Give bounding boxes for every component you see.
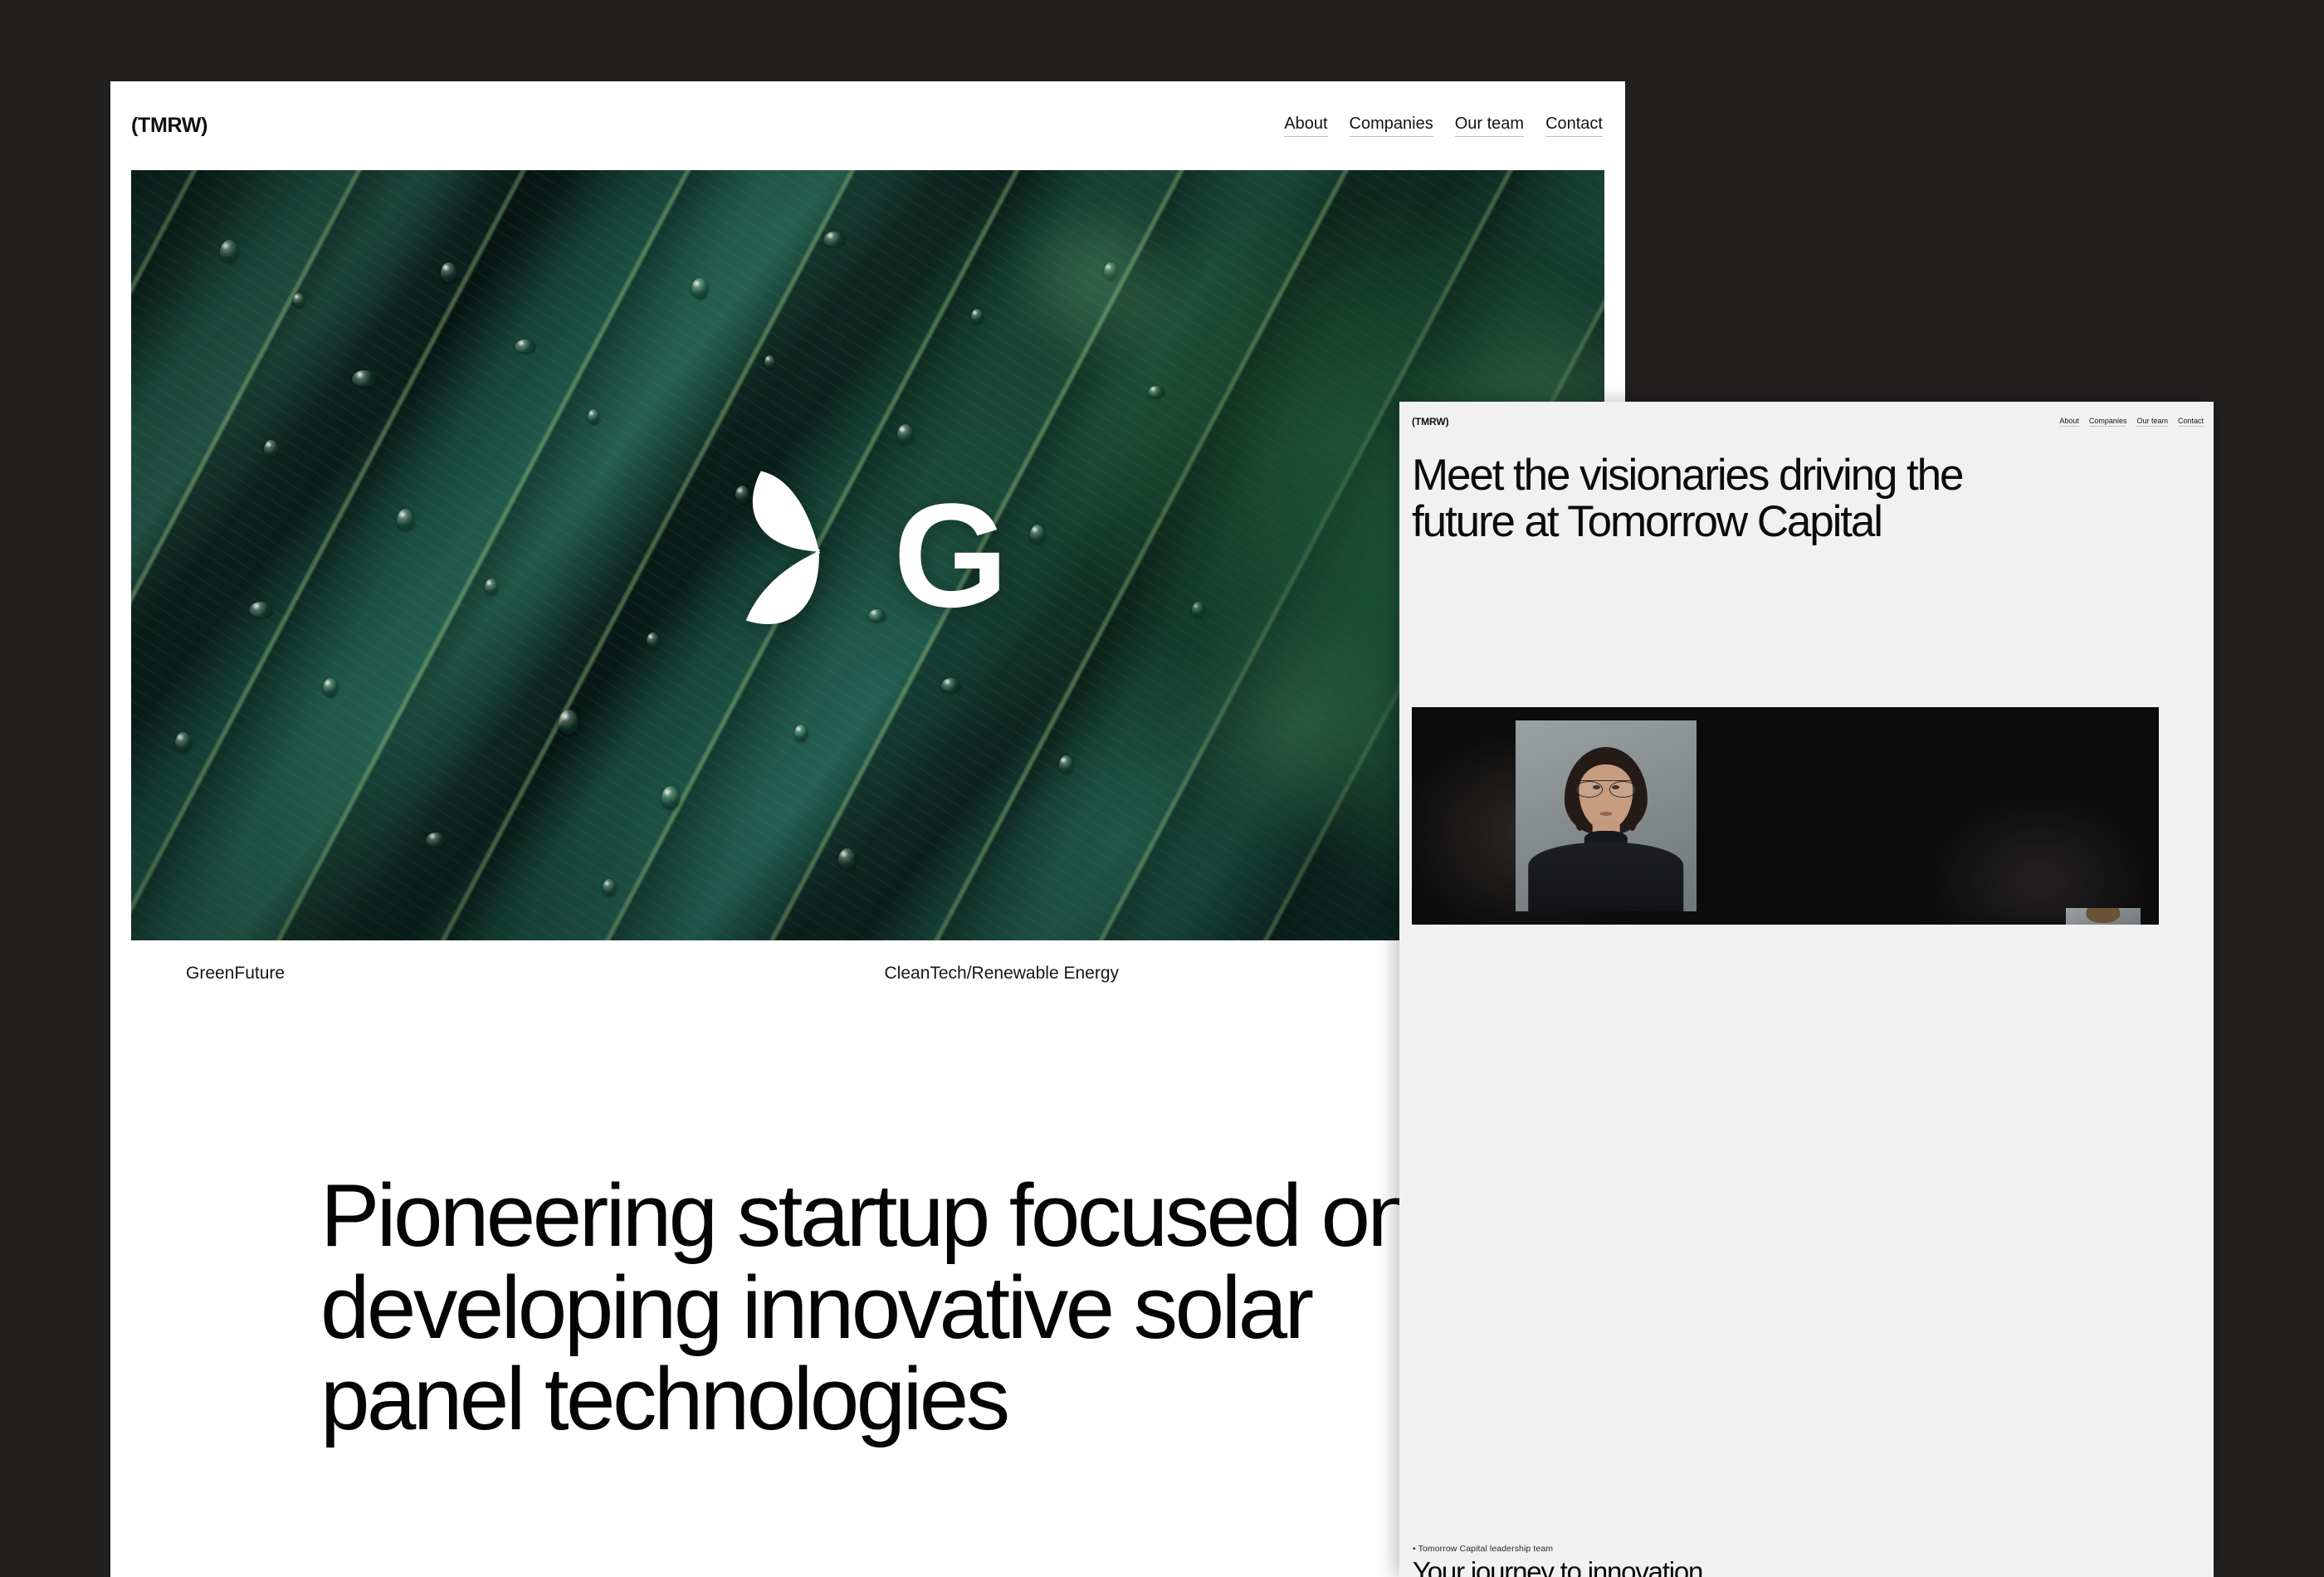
brand-letter-g: G [893,495,1003,616]
team-hero-image [1412,707,2159,925]
company-name: GreenFuture [131,964,868,984]
screenshot-stage: (TMRW) About Companies Our team Contact [0,0,2324,1577]
nav-item-contact-secondary[interactable]: Contact [2178,417,2204,427]
team-page-headline: Meet the visionaries driving the future … [1412,452,2009,545]
site-header-secondary: (TMRW) About Companies Our team Contact [1399,402,2214,441]
lead-portrait [1516,720,1697,911]
team-window: (TMRW) About Companies Our team Contact … [1399,402,2214,1577]
nav-item-about[interactable]: About [1284,115,1327,137]
nav-item-contact[interactable]: Contact [1545,115,1603,137]
nav-item-about-secondary[interactable]: About [2059,417,2079,427]
company-detail-window: (TMRW) About Companies Our team Contact [110,81,1625,1577]
greenfuture-logo-overlay: G [732,466,1003,645]
team-subheadline: Your journey to innovation starts here. [1413,1557,1761,1577]
main-navigation: About Companies Our team Contact [1284,115,1603,137]
main-navigation-secondary: About Companies Our team Contact [2059,417,2204,427]
logo-tmrw[interactable]: (TMRW) [131,114,207,138]
nav-item-our-team-secondary[interactable]: Our team [2136,417,2168,427]
hero-leaf-image: G [131,170,1604,940]
leaf-icon [732,466,906,645]
logo-tmrw-secondary[interactable]: (TMRW) [1412,416,1449,427]
cropped-portrait-preview [2066,908,2141,925]
page-headline: Pioneering startup focused on developing… [320,1169,1532,1445]
site-header: (TMRW) About Companies Our team Contact [110,81,1625,170]
nav-item-companies[interactable]: Companies [1350,115,1433,137]
nav-item-our-team[interactable]: Our team [1455,115,1524,137]
nav-item-companies-secondary[interactable]: Companies [2089,417,2127,427]
company-meta-row: GreenFuture CleanTech/Renewable Energy [131,964,1604,984]
section-label: • Tomorrow Capital leadership team [1413,1544,1553,1554]
